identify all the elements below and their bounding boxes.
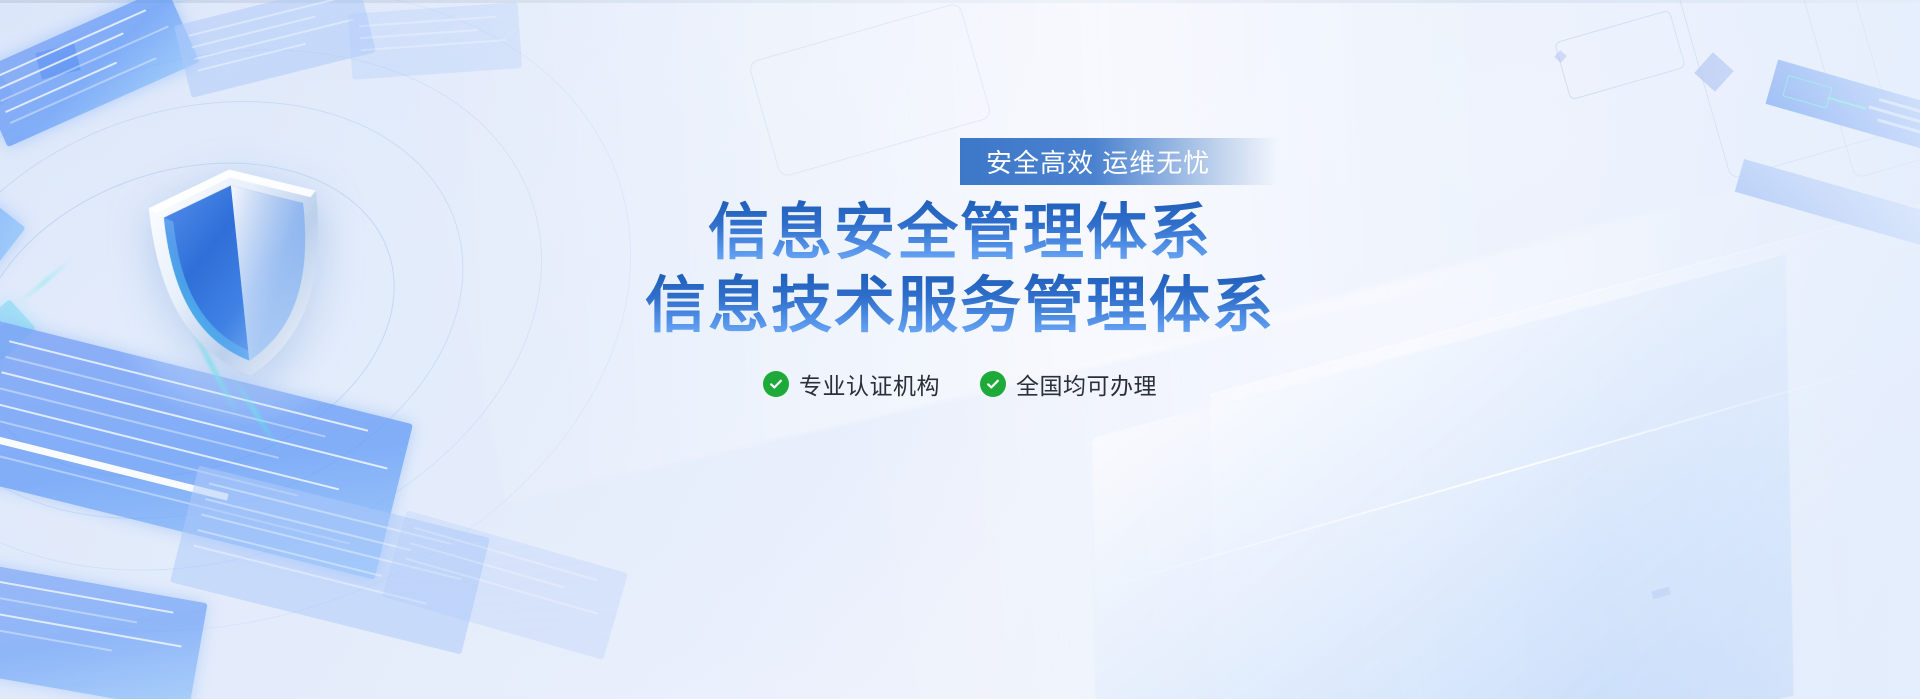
feature-list: 专业认证机构 全国均可办理	[763, 367, 1157, 401]
feature-item: 专业认证机构	[763, 367, 940, 401]
page-title: 信息安全管理体系 信息技术服务管理体系	[645, 199, 1275, 339]
page-title-line-2: 信息技术服务管理体系	[645, 272, 1275, 339]
check-circle-icon	[980, 371, 1006, 397]
page-title-line-1: 信息安全管理体系	[645, 199, 1275, 266]
tagline-text: 安全高效 运维无忧	[960, 143, 1210, 180]
check-circle-icon	[763, 371, 789, 397]
hero-banner: 安全高效 运维无忧 信息安全管理体系 信息技术服务管理体系 专业认证机构	[0, 0, 1920, 699]
feature-label: 专业认证机构	[799, 367, 940, 401]
hero-content: 安全高效 运维无忧 信息安全管理体系 信息技术服务管理体系 专业认证机构	[0, 0, 1920, 699]
tagline-badge: 安全高效 运维无忧	[960, 138, 1278, 185]
feature-item: 全国均可办理	[980, 367, 1157, 401]
feature-label: 全国均可办理	[1016, 367, 1157, 401]
